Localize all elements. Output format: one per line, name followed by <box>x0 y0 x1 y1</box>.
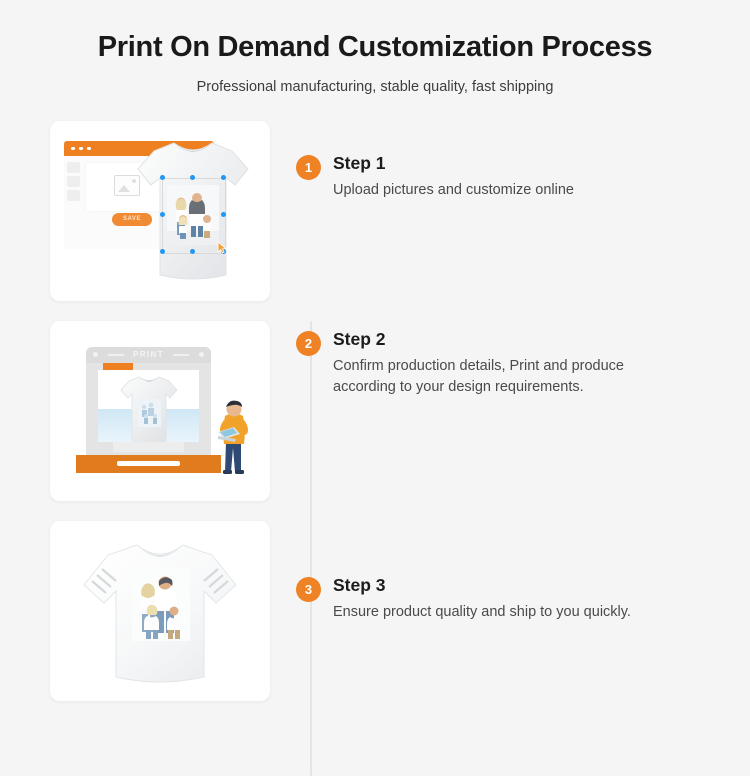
printed-photo-on-shirt <box>138 399 161 427</box>
step-description-3: Ensure product quality and ship to you q… <box>333 602 736 623</box>
step-image-card-3 <box>50 521 270 701</box>
step-title-1: Step 1 <box>333 153 736 173</box>
illustration-finished-tshirt <box>50 521 270 701</box>
step-number-badge-1: 1 <box>296 155 321 180</box>
machine-label: PRINT <box>86 350 211 359</box>
browser-sidebar-block <box>67 176 80 187</box>
page-subtitle: Professional manufacturing, stable quali… <box>0 79 750 95</box>
worker-with-laptop-figure <box>210 396 258 478</box>
page-header: Print On Demand Customization Process Pr… <box>0 0 750 95</box>
step-row-2: PRINT <box>0 321 750 501</box>
selection-handle-s[interactable] <box>190 249 195 254</box>
step-description-2: Confirm production details, Print and pr… <box>333 356 736 398</box>
step-text-2: 2 Step 2 Confirm production details, Pri… <box>296 329 736 398</box>
family-photo-svg <box>167 185 219 245</box>
selection-handle-sw[interactable] <box>160 249 165 254</box>
printed-family-photo <box>132 569 190 641</box>
window-dot-icon <box>79 147 83 151</box>
family-photo-svg <box>138 399 161 427</box>
print-machine-header: PRINT <box>86 347 211 363</box>
step-number-badge-3: 3 <box>296 577 321 602</box>
step-image-card-1: SAVE <box>50 121 270 301</box>
browser-sidebar-block <box>67 190 80 201</box>
step-title-3: Step 3 <box>333 575 736 595</box>
step-image-card-2: PRINT <box>50 321 270 501</box>
step-text-3: 3 Step 3 Ensure product quality and ship… <box>296 575 736 623</box>
step-number-badge-2: 2 <box>296 331 321 356</box>
cursor-svg <box>217 241 228 254</box>
window-dot-icon <box>87 147 91 151</box>
step-row-3: 3 Step 3 Ensure product quality and ship… <box>0 521 750 701</box>
selection-handle-e[interactable] <box>221 212 226 217</box>
browser-sidebar-block <box>67 162 80 173</box>
mouse-cursor-icon <box>217 241 228 254</box>
selection-handle-nw[interactable] <box>160 175 165 180</box>
step-title-2: Step 2 <box>333 329 736 349</box>
step-row-1: SAVE <box>0 121 750 301</box>
uploaded-family-photo <box>167 185 219 245</box>
machine-orange-accent <box>103 363 133 370</box>
selection-handle-w[interactable] <box>160 212 165 217</box>
step-description-1: Upload pictures and customize online <box>333 180 736 201</box>
illustration-print-machine: PRINT <box>50 321 270 501</box>
worker-svg <box>210 396 258 478</box>
illustration-browser-editor: SAVE <box>50 121 270 301</box>
page-title: Print On Demand Customization Process <box>0 30 750 65</box>
step-text-1: 1 Step 1 Upload pictures and customize o… <box>296 153 736 201</box>
machine-tray <box>113 442 184 452</box>
window-dot-icon <box>71 147 75 151</box>
infographic-page: Print On Demand Customization Process Pr… <box>0 0 750 750</box>
family-photo-svg <box>132 569 190 641</box>
machine-output-slot <box>117 461 180 466</box>
